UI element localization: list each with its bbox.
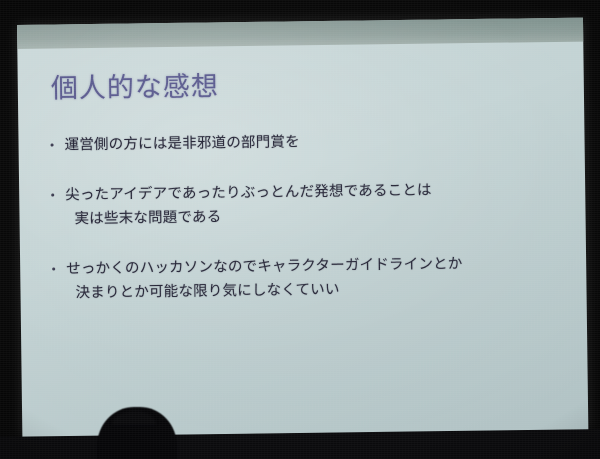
- bullet-item: 尖ったアイデアであったりぶっとんだ発想であることは 実は些末な問題である: [49, 178, 564, 232]
- projection-screen: 個人的な感想 運営側の方には是非邪道の部門賞を 尖ったアイデアであったりぶっとん…: [17, 18, 588, 437]
- bullet-item: 運営側の方には是非邪道の部門賞を: [48, 128, 562, 158]
- bullet-marker-icon: [51, 144, 54, 147]
- bullet-list: 運営側の方には是非邪道の部門賞を 尖ったアイデアであったりぶっとんだ発想であるこ…: [48, 128, 564, 306]
- bullet-marker-icon: [52, 268, 55, 271]
- bullet-item: せっかくのハッカソンなのでキャラクターガイドラインとか 決まりとか可能な限り気に…: [50, 252, 565, 306]
- bullet-marker-icon: [51, 194, 54, 197]
- slide-title: 個人的な感想: [51, 72, 219, 104]
- projected-slide-photo: 個人的な感想 運営側の方には是非邪道の部門賞を 尖ったアイデアであったりぶっとん…: [0, 0, 600, 459]
- bullet-line: 運営側の方には是非邪道の部門賞を: [64, 128, 562, 158]
- slide-content: 個人的な感想 運営側の方には是非邪道の部門賞を 尖ったアイデアであったりぶっとん…: [17, 42, 588, 437]
